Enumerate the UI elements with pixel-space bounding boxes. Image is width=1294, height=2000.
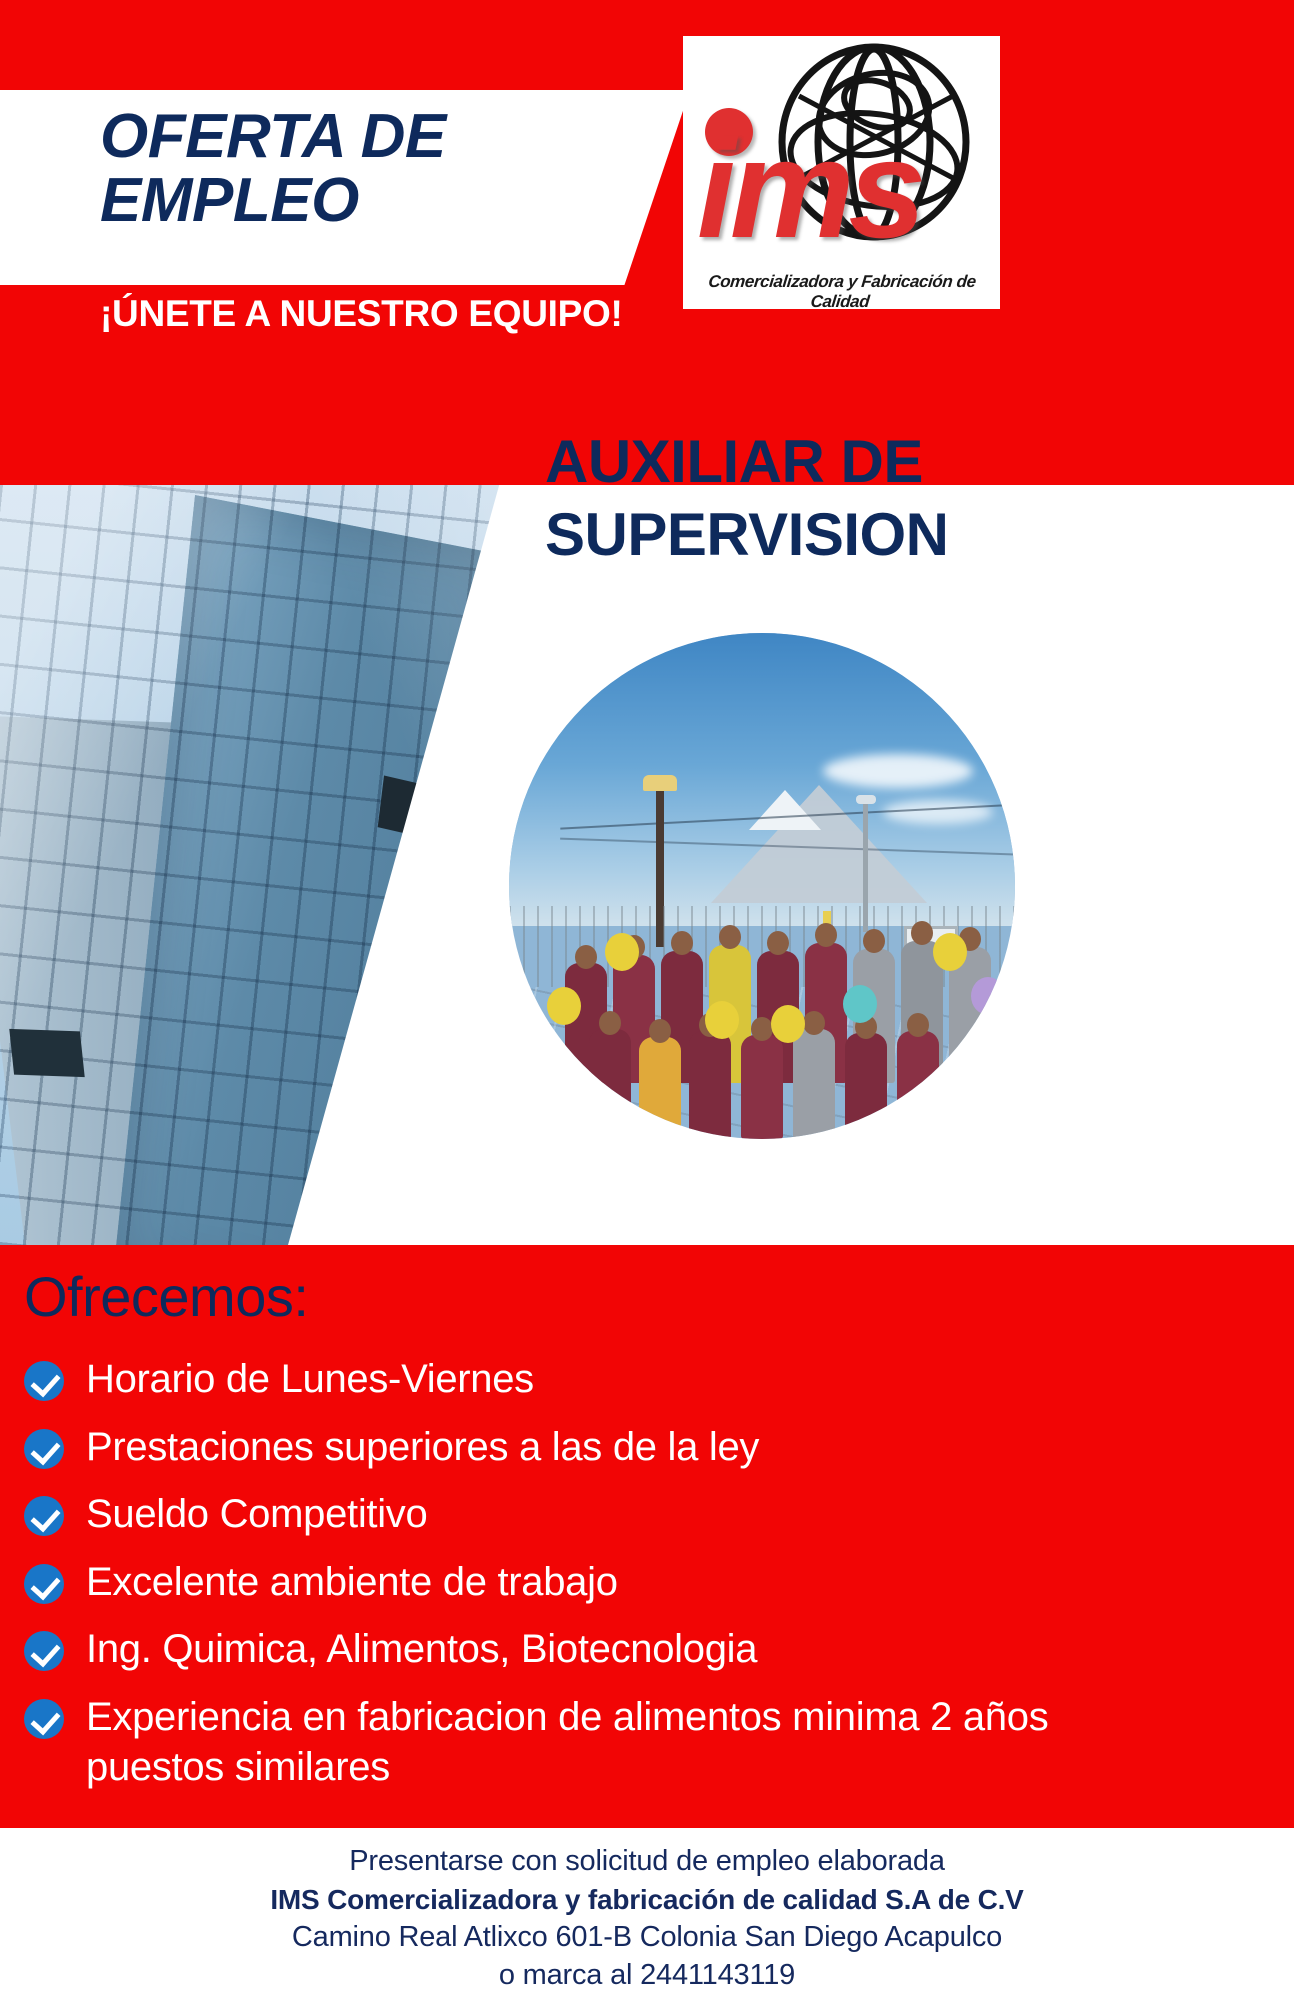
job-title: AUXILIAR DE SUPERVISION: [545, 425, 1185, 571]
list-item: Excelente ambiente de trabajo: [24, 1558, 1264, 1608]
poster-header: OFERTA DE EMPLEO ¡ÚNETE A NUESTRO EQUIPO…: [0, 0, 1294, 485]
balloon: [933, 933, 967, 971]
offer-text: Prestaciones superiores a las de la ley: [86, 1423, 759, 1473]
team-member-head: [575, 945, 597, 969]
list-item: Horario de Lunes-Viernes: [24, 1355, 1264, 1405]
offers-section: Ofrecemos: Horario de Lunes-Viernes Pres…: [0, 1245, 1294, 1828]
team-photo: [509, 633, 1015, 1139]
team-member-head: [907, 1013, 929, 1037]
team-member: [589, 1029, 631, 1139]
team-member: [689, 1031, 731, 1139]
team-member: [639, 1037, 681, 1139]
offers-heading: Ofrecemos:: [24, 1264, 308, 1329]
check-icon: [24, 1361, 64, 1401]
offers-list: Horario de Lunes-Viernes Prestaciones su…: [24, 1355, 1264, 1810]
list-item: Sueldo Competitivo: [24, 1490, 1264, 1540]
balloon: [843, 985, 877, 1023]
footer-instruction: Presentarse con solicitud de empleo elab…: [0, 1842, 1294, 1881]
team-member-head: [803, 1011, 825, 1035]
balloon: [771, 1005, 805, 1043]
list-item: Ing. Quimica, Alimentos, Biotecnologia: [24, 1625, 1264, 1675]
lamp-head: [856, 795, 876, 804]
team-member: [845, 1033, 887, 1139]
volcano-snow-cap: [749, 790, 821, 830]
list-item: Prestaciones superiores a las de la ley: [24, 1423, 1264, 1473]
list-item: Experiencia en fabricacion de alimentos …: [24, 1693, 1264, 1792]
offer-text: Excelente ambiente de trabajo: [86, 1558, 618, 1608]
logo-wordmark: ims: [697, 114, 987, 272]
building-window-dark: [9, 1029, 84, 1077]
lamp-head: [643, 775, 677, 791]
team-member-head: [767, 931, 789, 955]
job-title-line2: SUPERVISION: [545, 498, 1185, 571]
balloon: [605, 933, 639, 971]
team-member-head: [719, 925, 741, 949]
building-window-dark: [393, 945, 484, 1016]
check-icon: [24, 1564, 64, 1604]
team-member-head: [863, 929, 885, 953]
team-member-head: [649, 1019, 671, 1043]
header-subtitle: ¡ÚNETE A NUESTRO EQUIPO!: [100, 293, 622, 335]
check-icon: [24, 1496, 64, 1536]
footer-phone: o marca al 2441143119: [0, 1956, 1294, 1995]
team-member-head: [751, 1017, 773, 1041]
team-member: [741, 1035, 783, 1139]
job-title-line1: AUXILIAR DE: [545, 425, 1185, 498]
balloon: [547, 987, 581, 1025]
team-member: [793, 1029, 835, 1139]
team-member-head: [671, 931, 693, 955]
page-title: OFERTA DE EMPLEO: [100, 105, 660, 233]
team-member: [897, 1031, 939, 1139]
offer-text: Horario de Lunes-Viernes: [86, 1355, 534, 1405]
offer-text: Ing. Quimica, Alimentos, Biotecnologia: [86, 1625, 757, 1675]
check-icon: [24, 1631, 64, 1671]
balloon: [971, 977, 1005, 1015]
footer-company-name: IMS Comercializadora y fabricación de ca…: [0, 1881, 1294, 1918]
team-member-head: [599, 1011, 621, 1035]
offer-text: Experiencia en fabricacion de alimentos …: [86, 1693, 1086, 1792]
team-member-head: [815, 923, 837, 947]
balloon: [705, 1001, 739, 1039]
contact-footer: Presentarse con solicitud de empleo elab…: [0, 1828, 1294, 2000]
footer-address: Camino Real Atlixco 601-B Colonia San Di…: [0, 1918, 1294, 1957]
offer-text: Sueldo Competitivo: [86, 1490, 427, 1540]
check-icon: [24, 1699, 64, 1739]
company-logo: ims Comercializadora y Fabricación de Ca…: [683, 36, 1000, 309]
check-icon: [24, 1429, 64, 1469]
team-member-head: [911, 921, 933, 945]
logo-tagline: Comercializadora y Fabricación de Calida…: [689, 272, 993, 309]
